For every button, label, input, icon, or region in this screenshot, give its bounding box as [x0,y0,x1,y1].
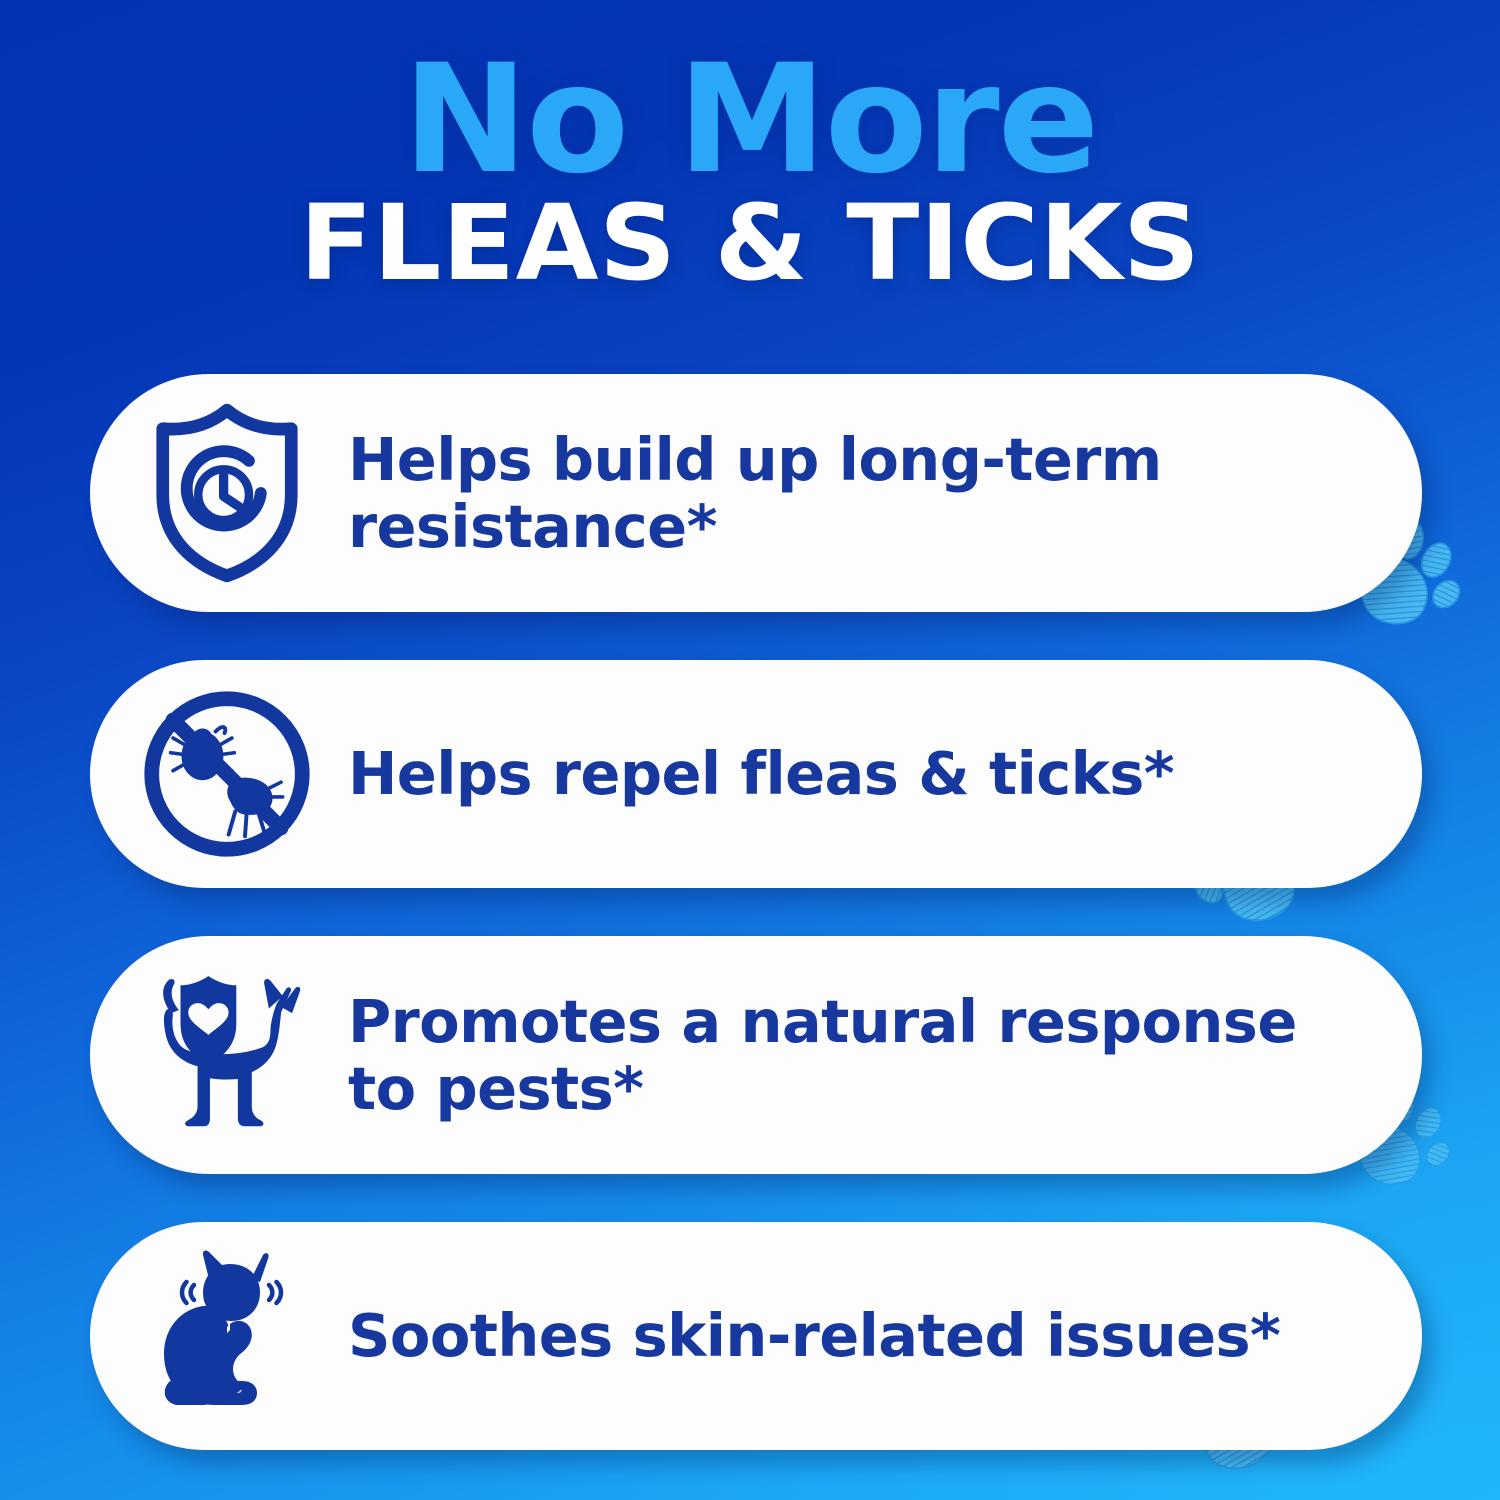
shield-clock-icon [134,400,320,586]
feature-card-label: Helps repel fleas & ticks* [320,740,1382,807]
cat-scratching-icon [134,1243,320,1429]
feature-card-label: Helps build up long-term resistance* [320,426,1382,561]
feature-card-label: Promotes a natural response to pests* [320,988,1382,1123]
title-line-primary: No More [0,44,1500,197]
feature-card[interactable]: Soothes skin-related issues* [90,1222,1422,1450]
feature-card-list: Helps build up long-term resistance* [90,374,1422,1450]
poster-canvas: No More FLEAS & TICKS [0,0,1500,1500]
title-line-secondary: FLEAS & TICKS [0,191,1500,295]
feature-card[interactable]: Helps repel fleas & ticks* [90,660,1422,888]
feature-card[interactable]: Promotes a natural response to pests* [90,936,1422,1174]
poster-title: No More FLEAS & TICKS [0,44,1500,295]
cat-shield-heart-icon [134,962,320,1148]
no-pests-icon [134,681,320,867]
feature-card-label: Soothes skin-related issues* [320,1302,1382,1369]
feature-card[interactable]: Helps build up long-term resistance* [90,374,1422,612]
